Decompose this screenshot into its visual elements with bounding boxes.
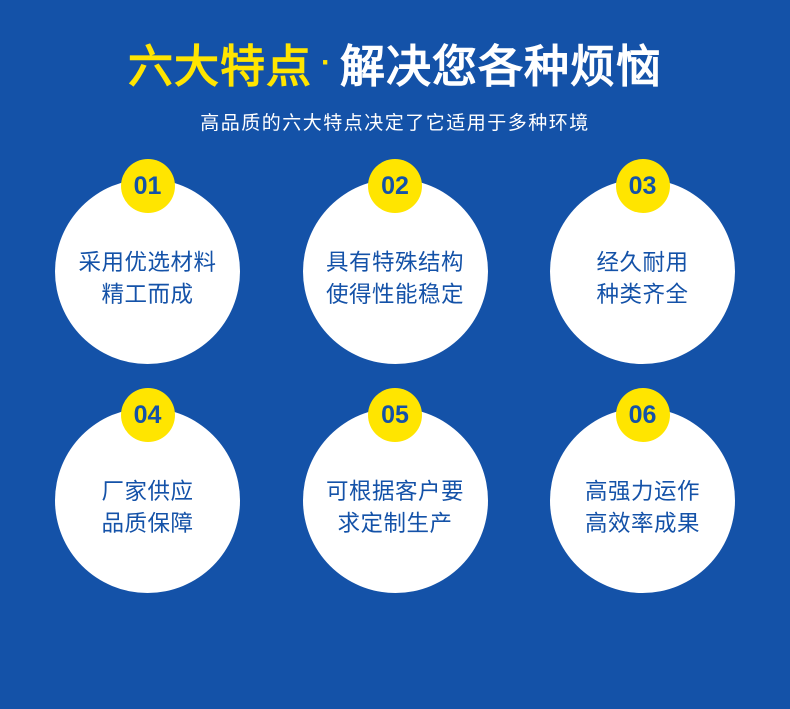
page-subtitle: 高品质的六大特点决定了它适用于多种环境 — [0, 108, 790, 135]
feature-text-line2: 高效率成果 — [585, 508, 700, 540]
feature-text-line1: 可根据客户要 — [326, 479, 464, 504]
page-header: 六大特点 · 解决您各种烦恼 高品质的六大特点决定了它适用于多种环境 — [0, 0, 790, 135]
feature-text-line2: 品质保障 — [101, 508, 193, 540]
feature-number-badge: 06 — [616, 388, 670, 442]
feature-text-line2: 使得性能稳定 — [326, 279, 464, 311]
feature-text-line1: 采用优选材料 — [78, 250, 216, 275]
feature-number: 04 — [134, 403, 162, 428]
feature-text-line2: 求定制生产 — [326, 508, 464, 540]
feature-text: 厂家供应 品质保障 — [101, 476, 193, 540]
feature-text-line2: 种类齐全 — [596, 279, 688, 311]
feature-number: 06 — [629, 403, 657, 428]
feature-item: 采用优选材料 精工而成 01 — [45, 159, 250, 364]
feature-number: 03 — [629, 174, 657, 199]
feature-number-badge: 01 — [121, 159, 175, 213]
feature-highlights-page: 六大特点 · 解决您各种烦恼 高品质的六大特点决定了它适用于多种环境 采用优选材… — [0, 0, 790, 709]
feature-number-badge: 02 — [368, 159, 422, 213]
feature-item: 经久耐用 种类齐全 03 — [540, 159, 745, 364]
feature-number-badge: 03 — [616, 159, 670, 213]
feature-item: 具有特殊结构 使得性能稳定 02 — [293, 159, 498, 364]
feature-item: 可根据客户要 求定制生产 05 — [293, 388, 498, 593]
feature-number: 02 — [381, 174, 409, 199]
feature-number-badge: 05 — [368, 388, 422, 442]
feature-text-line1: 高强力运作 — [585, 479, 700, 504]
feature-text-line1: 经久耐用 — [596, 250, 688, 275]
feature-text-line1: 厂家供应 — [101, 479, 193, 504]
feature-text: 高强力运作 高效率成果 — [585, 476, 700, 540]
feature-text-line1: 具有特殊结构 — [326, 250, 464, 275]
feature-item: 厂家供应 品质保障 04 — [45, 388, 250, 593]
feature-text: 可根据客户要 求定制生产 — [326, 476, 464, 540]
feature-text: 具有特殊结构 使得性能稳定 — [326, 247, 464, 311]
feature-item: 高强力运作 高效率成果 06 — [540, 388, 745, 593]
title-highlight-text: 六大特点 — [128, 44, 312, 89]
feature-number: 01 — [134, 174, 162, 199]
title-rest-text: 解决您各种烦恼 — [340, 44, 662, 89]
feature-grid: 采用优选材料 精工而成 01 具有特殊结构 使得性能稳定 02 — [45, 159, 745, 593]
feature-number: 05 — [381, 403, 409, 428]
title-separator-dot: · — [312, 48, 340, 78]
feature-text: 经久耐用 种类齐全 — [596, 247, 688, 311]
page-title: 六大特点 · 解决您各种烦恼 — [0, 44, 790, 89]
feature-number-badge: 04 — [121, 388, 175, 442]
feature-text: 采用优选材料 精工而成 — [78, 247, 216, 311]
feature-text-line2: 精工而成 — [78, 279, 216, 311]
